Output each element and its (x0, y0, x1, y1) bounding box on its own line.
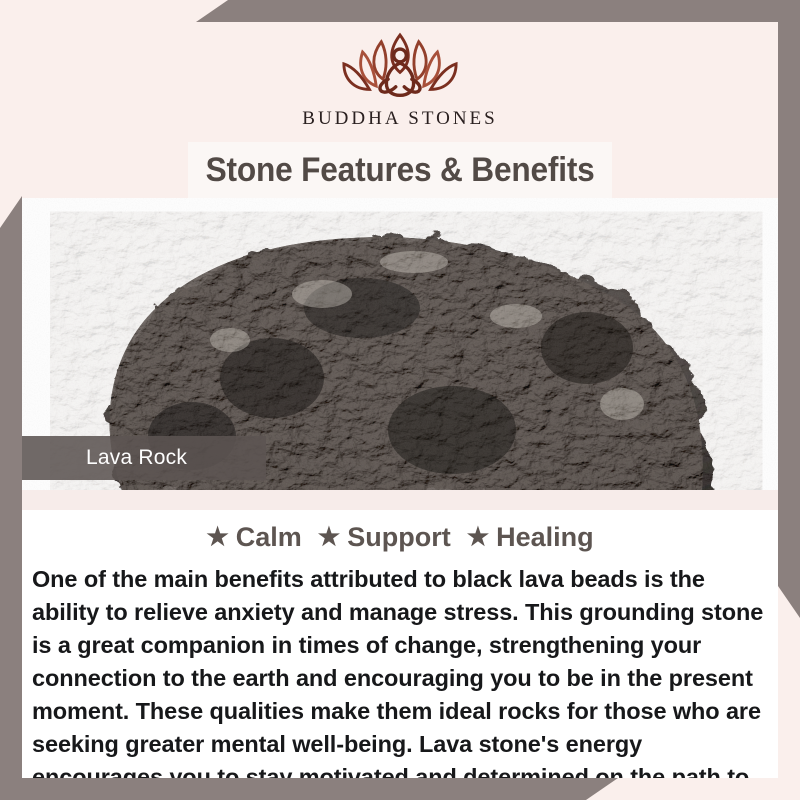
body-paragraph: One of the main benefits attributed to b… (32, 563, 768, 778)
star-icon: ★ (467, 525, 489, 550)
body-section: One of the main benefits attributed to b… (22, 559, 778, 778)
lotus-meditation-figure-icon (315, 26, 485, 112)
title-plate: Stone Features & Benefits (188, 142, 612, 198)
attribute-calm: ★ Calm (206, 522, 301, 553)
page-title: Stone Features & Benefits (206, 151, 595, 190)
attribute-healing: ★ Healing (467, 522, 594, 553)
attribute-support: ★ Support (318, 522, 451, 553)
star-icon: ★ (206, 525, 228, 550)
brand-header: BUDDHA STONES (22, 22, 778, 142)
brand-name: BUDDHA STONES (302, 108, 497, 130)
frame-bar-bottom (0, 778, 618, 800)
attribute-label: Calm (236, 522, 302, 553)
star-icon: ★ (318, 525, 340, 550)
hero-image: Lava Rock (22, 198, 778, 490)
poster-card: BUDDHA STONES Stone Features & Benefits (22, 22, 778, 778)
attribute-label: Support (347, 522, 450, 553)
hero-caption-bar: Lava Rock (22, 436, 266, 480)
frame-bar-left (0, 196, 22, 800)
title-band: Stone Features & Benefits (22, 142, 778, 198)
frame-bar-top (196, 0, 800, 22)
separator-strip (22, 490, 778, 510)
hero-caption-text: Lava Rock (22, 446, 187, 470)
poster-root: BUDDHA STONES Stone Features & Benefits (0, 0, 800, 800)
attribute-label: Healing (496, 522, 594, 553)
frame-bar-right (778, 0, 800, 618)
attributes-row: ★ Calm ★ Support ★ Healing (22, 510, 778, 559)
